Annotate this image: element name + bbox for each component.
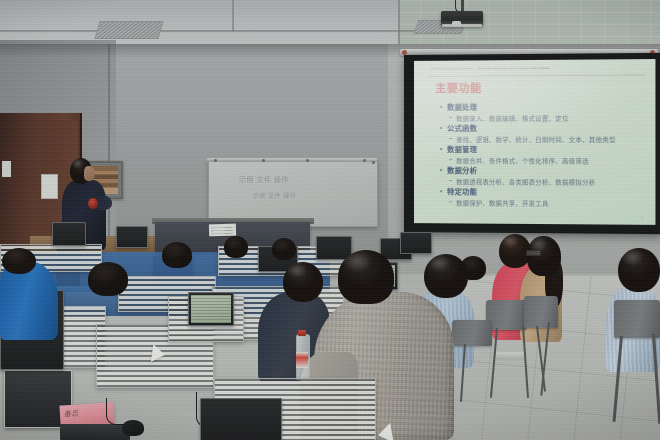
slide-bullet-heading: 数据管理 bbox=[440, 145, 646, 155]
handout-lines bbox=[211, 226, 234, 235]
whiteboard-clip bbox=[372, 161, 375, 164]
monitor bbox=[116, 226, 148, 248]
keyboard[interactable] bbox=[60, 424, 130, 440]
slide-bullet: 数据管理 数据合并、条件格式、个性化排序、高级筛选 bbox=[440, 145, 646, 165]
presenter-shirt-logo bbox=[88, 198, 98, 209]
chair[interactable] bbox=[486, 300, 526, 330]
slide-bullet: 特定功能 数据保护、数据共享、开发工具 bbox=[440, 187, 646, 208]
slide-header-rule bbox=[428, 75, 645, 77]
classroom-photo: 示例 文件 操作 示例 文件 操作 OFFICE Automation Seri… bbox=[0, 0, 660, 440]
monitor bbox=[400, 232, 432, 254]
hair-highlight bbox=[527, 236, 561, 276]
student-head bbox=[88, 262, 128, 296]
slide-header: OFFICE Automation Series · Data Manageme… bbox=[431, 65, 641, 71]
glasses-icon bbox=[526, 250, 541, 256]
whiteboard-clip bbox=[214, 159, 217, 162]
bottle-cap bbox=[298, 330, 306, 336]
student-head bbox=[272, 238, 296, 260]
handout-paper bbox=[209, 224, 236, 237]
whiteboard-writing: 示例 文件 操作 bbox=[239, 175, 289, 185]
slide-bullet-detail: 数据合并、条件格式、个性化排序、高级筛选 bbox=[440, 156, 646, 165]
slide-surface: OFFICE Automation Series · Data Manageme… bbox=[414, 59, 655, 225]
slide-bullet: 公式函数 查找、逻辑、数学、统计、日期时间、文本、其他类型 bbox=[440, 124, 646, 144]
whiteboard-clip bbox=[363, 159, 366, 162]
ceiling-seam bbox=[232, 0, 234, 31]
slide-bullet: 数据处理 数据录入、数据编辑、格式设置、定位 bbox=[440, 102, 646, 122]
projection-screen: OFFICE Automation Series · Data Manageme… bbox=[404, 53, 660, 234]
hair-highlight bbox=[618, 248, 660, 292]
posted-notice bbox=[41, 174, 58, 199]
student-blue-shirt-head bbox=[424, 254, 468, 298]
student-head bbox=[224, 236, 248, 258]
whiteboard: 示例 文件 操作 示例 文件 操作 bbox=[208, 160, 378, 227]
chair-seat[interactable] bbox=[496, 352, 526, 360]
chair[interactable] bbox=[524, 296, 558, 328]
whiteboard-clip bbox=[306, 159, 309, 162]
student-blue-coat-head bbox=[2, 248, 36, 274]
ceiling-seam bbox=[0, 30, 430, 32]
folded-paper bbox=[151, 344, 166, 364]
slide-bullet-list: 数据处理 数据录入、数据编辑、格式设置、定位 公式函数 查找、逻辑、数学、统计、… bbox=[440, 102, 646, 209]
slide-bullet-detail: 数据录入、数据编辑、格式设置、定位 bbox=[440, 113, 646, 123]
whiteboard-clip bbox=[262, 159, 265, 162]
posted-notice bbox=[2, 161, 11, 177]
monitor-foreground bbox=[200, 398, 282, 440]
student-blue-coat-torso bbox=[0, 262, 58, 340]
hair-highlight bbox=[424, 254, 468, 298]
chair[interactable] bbox=[452, 320, 492, 346]
slide-bullet-detail: 查找、逻辑、数学、统计、日期时间、文本、其他类型 bbox=[440, 134, 646, 143]
student-dark-jacket-head bbox=[283, 262, 323, 302]
student-right-blue-shirt-head bbox=[618, 248, 660, 292]
ceiling-seam bbox=[398, 0, 400, 48]
slide-bullet-heading: 数据分析 bbox=[440, 166, 646, 177]
monitor bbox=[188, 292, 234, 326]
slide-bullet-detail: 数据保护、数据共享、开发工具 bbox=[440, 198, 646, 208]
slide-bullet-detail: 数据透视表分析、各类图表分析、数据模拟分析 bbox=[440, 177, 646, 187]
projector-base bbox=[442, 24, 482, 27]
slide-bullet-heading: 公式函数 bbox=[440, 124, 646, 134]
monitor bbox=[52, 222, 86, 246]
hair-highlight bbox=[338, 250, 394, 304]
slide-bullet-heading: 数据处理 bbox=[440, 102, 646, 113]
slide-bullet: 数据分析 数据透视表分析、各类图表分析、数据模拟分析 bbox=[440, 166, 646, 186]
student-foreground-head bbox=[338, 250, 394, 304]
slide-title: 主要功能 bbox=[435, 80, 481, 96]
whiteboard-rail bbox=[207, 158, 377, 162]
student-tan-jacket-head bbox=[527, 236, 561, 276]
desk-name-card-text: 备忘 bbox=[64, 409, 79, 420]
slide-page-number: 7 bbox=[641, 217, 643, 221]
cable bbox=[106, 398, 135, 425]
bottle-label bbox=[296, 352, 308, 368]
slide-bullet-heading: 特定功能 bbox=[440, 187, 646, 198]
student-head bbox=[162, 242, 192, 268]
presenter-face bbox=[84, 166, 95, 181]
ceiling-vent-icon bbox=[94, 21, 163, 39]
hair-highlight bbox=[283, 262, 323, 302]
whiteboard-writing: 示例 文件 操作 bbox=[253, 191, 296, 200]
monitor-screen bbox=[191, 295, 231, 323]
projector-lens bbox=[452, 21, 461, 26]
chair[interactable] bbox=[614, 300, 660, 338]
